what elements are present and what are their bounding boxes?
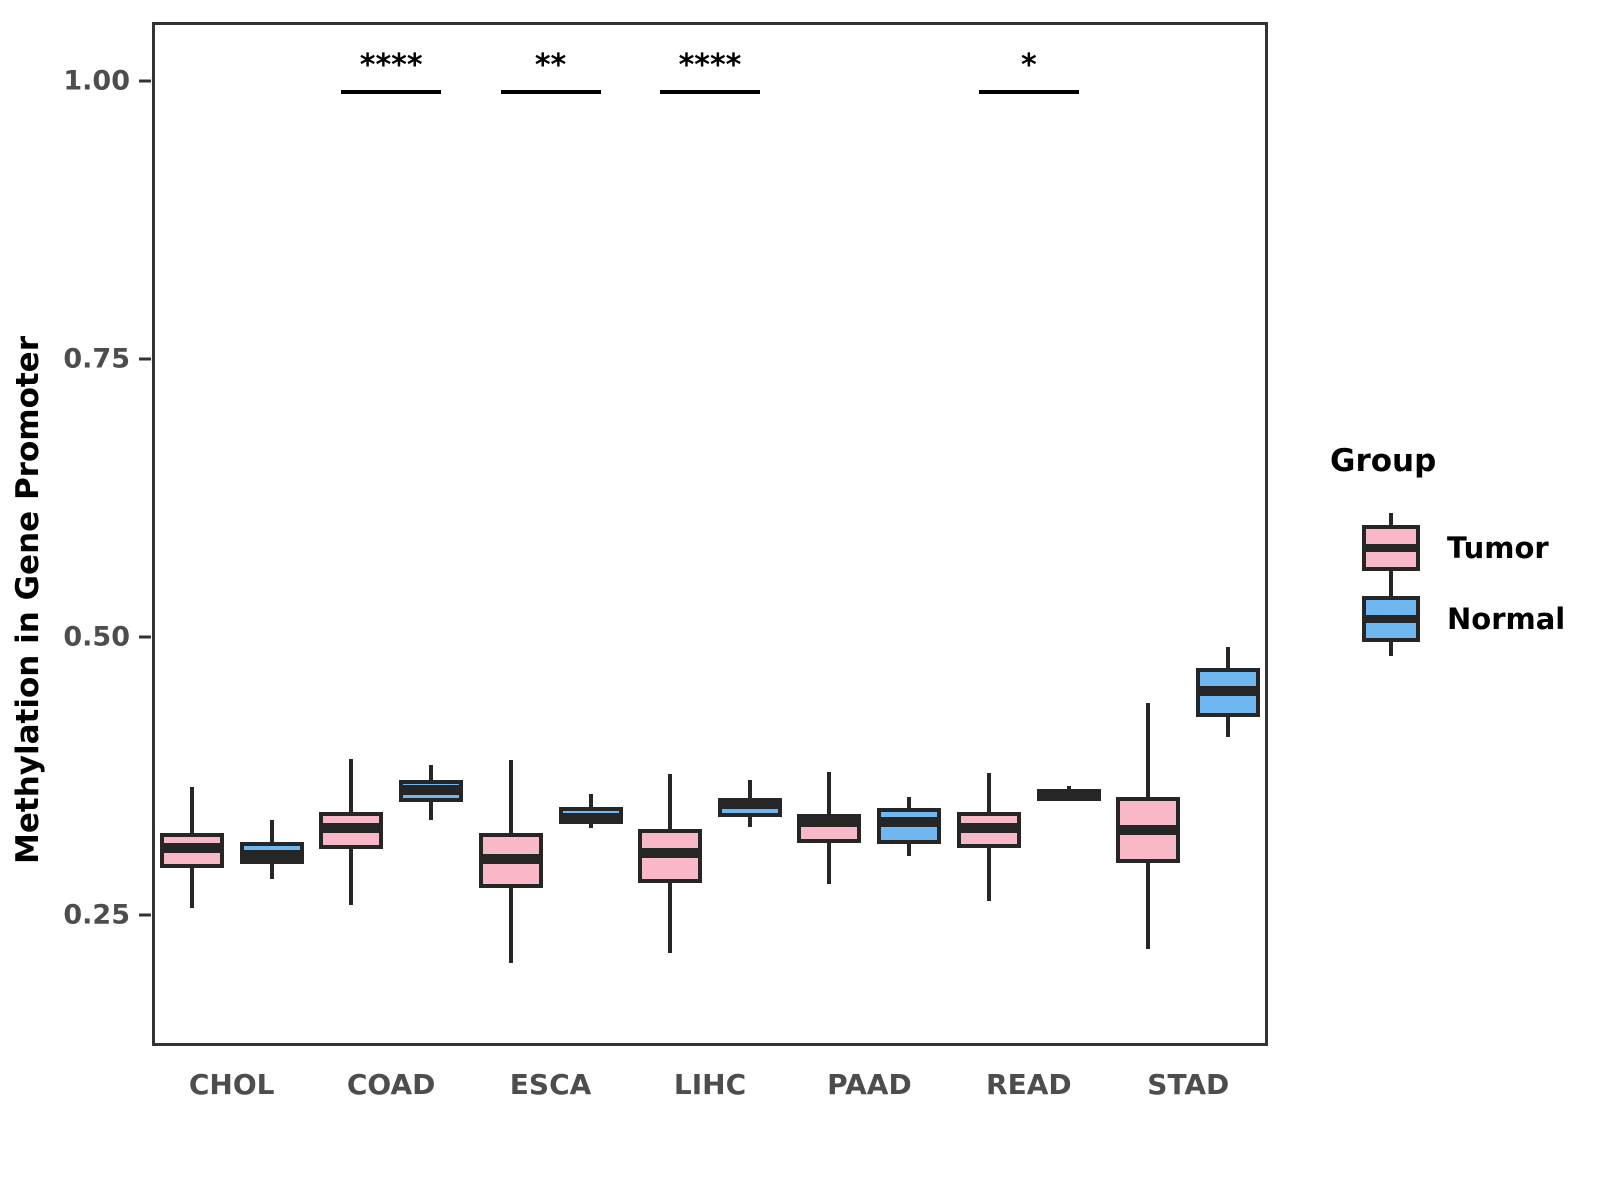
y-tick-mark xyxy=(139,80,151,83)
y-tick-label: 1.00 xyxy=(63,66,130,97)
chart-root: Methylation in Gene Promoter 0.250.500.7… xyxy=(0,0,1600,1200)
whisker-lower xyxy=(429,802,433,821)
significance-label: **** xyxy=(679,48,742,83)
plot-panel xyxy=(152,22,1268,1046)
median-line xyxy=(957,823,1021,833)
median-line xyxy=(1116,825,1180,835)
median-line xyxy=(240,850,304,860)
significance-label: **** xyxy=(360,48,423,83)
whisker-lower xyxy=(907,844,911,856)
x-tick-label-esca: ESCA xyxy=(510,1068,592,1101)
median-line xyxy=(399,785,463,795)
significance-label: ** xyxy=(535,48,566,83)
x-tick-label-read: READ xyxy=(986,1068,1072,1101)
whisker-lower xyxy=(1146,863,1150,950)
median-line xyxy=(1196,686,1260,696)
legend-whisker-lower xyxy=(1389,571,1393,585)
y-tick-mark xyxy=(139,358,151,361)
whisker-lower xyxy=(589,824,593,828)
whisker-lower xyxy=(668,883,672,953)
significance-bar xyxy=(501,90,601,94)
significance-bar xyxy=(341,90,441,94)
whisker-upper xyxy=(1146,703,1150,798)
whisker-upper xyxy=(907,797,911,808)
median-line xyxy=(559,813,623,823)
y-tick-label: 0.25 xyxy=(63,900,130,931)
median-line xyxy=(718,799,782,809)
whisker-lower xyxy=(987,848,991,900)
median-line xyxy=(797,817,861,827)
significance-bar xyxy=(979,90,1079,94)
whisker-upper xyxy=(270,820,274,841)
whisker-lower xyxy=(349,849,353,905)
median-line xyxy=(1037,789,1101,799)
y-tick-label: 0.75 xyxy=(63,344,130,375)
whisker-lower xyxy=(1226,717,1230,737)
median-line xyxy=(877,817,941,827)
y-axis-title: Methylation in Gene Promoter xyxy=(10,336,46,864)
median-line xyxy=(319,823,383,833)
y-tick-label: 0.50 xyxy=(63,622,130,653)
whisker-upper xyxy=(509,760,513,832)
x-tick-label-coad: COAD xyxy=(347,1068,436,1101)
whisker-upper xyxy=(668,774,672,830)
legend-key-median xyxy=(1362,615,1420,623)
y-tick-mark xyxy=(139,636,151,639)
whisker-lower xyxy=(270,864,274,880)
whisker-lower xyxy=(748,817,752,827)
whisker-lower xyxy=(827,843,831,884)
significance-bar xyxy=(660,90,760,94)
legend-label: Normal xyxy=(1447,602,1565,636)
median-line xyxy=(638,848,702,858)
x-tick-label-stad: STAD xyxy=(1147,1068,1229,1101)
x-tick-label-lihc: LIHC xyxy=(674,1068,746,1101)
whisker-upper xyxy=(748,780,752,798)
median-line xyxy=(160,843,224,853)
whisker-upper xyxy=(190,787,194,833)
whisker-upper xyxy=(589,794,593,807)
whisker-lower xyxy=(190,868,194,908)
whisker-upper xyxy=(987,773,991,812)
legend-key-median xyxy=(1362,544,1420,552)
legend-whisker-lower xyxy=(1389,642,1393,656)
whisker-upper xyxy=(827,772,831,814)
legend-label: Tumor xyxy=(1447,531,1549,565)
significance-label: * xyxy=(1021,48,1037,83)
x-tick-label-chol: CHOL xyxy=(189,1068,275,1101)
whisker-upper xyxy=(349,759,353,811)
y-tick-mark xyxy=(139,914,151,917)
whisker-upper xyxy=(429,765,433,781)
median-line xyxy=(479,854,543,864)
legend-title: Group xyxy=(1330,443,1436,479)
whisker-upper xyxy=(1226,647,1230,668)
whisker-lower xyxy=(509,888,513,963)
x-tick-label-paad: PAAD xyxy=(827,1068,912,1101)
